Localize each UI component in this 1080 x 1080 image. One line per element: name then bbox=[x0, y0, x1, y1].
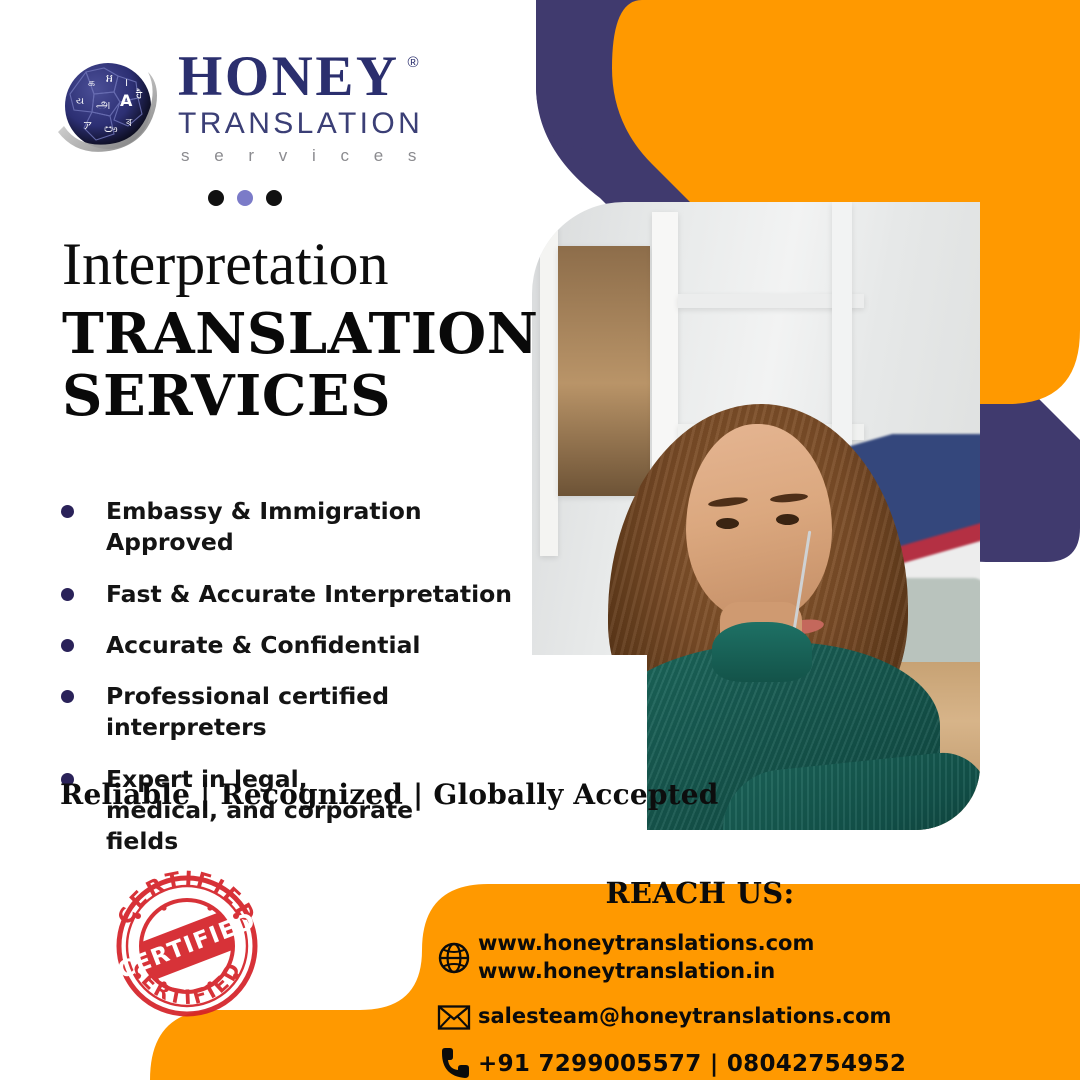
certified-stamp-icon: CERTIFIED CERTIFIED CERTIFIED bbox=[104, 868, 270, 1018]
svg-text:அ: அ bbox=[96, 97, 110, 112]
logo-dots bbox=[208, 190, 282, 206]
contact-website-row: www.honeytranslations.com www.honeytrans… bbox=[430, 930, 1080, 985]
phone-icon bbox=[430, 1047, 478, 1080]
feature-text: Fast & Accurate Interpretation bbox=[106, 579, 512, 610]
dot-3 bbox=[266, 190, 282, 206]
globe-icon bbox=[430, 941, 478, 975]
feature-list: Embassy & Immigration Approved Fast & Ac… bbox=[56, 496, 536, 877]
headline-block: Interpretation TRANSLATION SERVICES bbox=[62, 234, 532, 429]
logo-subtitle: TRANSLATION bbox=[178, 107, 426, 141]
bullet-icon bbox=[61, 505, 74, 518]
envelope-icon bbox=[430, 1004, 478, 1031]
tagline: Reliable | Recognized | Globally Accepte… bbox=[60, 778, 719, 811]
interpreter-person bbox=[602, 370, 932, 830]
feature-text: Professional certified interpreters bbox=[106, 681, 536, 744]
hero-photo bbox=[532, 202, 980, 830]
svg-text:A: A bbox=[120, 91, 133, 110]
list-item: Embassy & Immigration Approved bbox=[56, 496, 536, 559]
contact-block: REACH US: www.honeytranslations.com www.… bbox=[430, 876, 1080, 1080]
feature-text: Accurate & Confidential bbox=[106, 630, 421, 661]
email-address[interactable]: salesteam@honeytranslations.com bbox=[478, 1003, 891, 1031]
svg-text:ৰ: ৰ bbox=[125, 116, 133, 129]
bullet-icon bbox=[61, 690, 74, 703]
headline-bold-1: TRANSLATION bbox=[62, 301, 532, 367]
contact-email-row: salesteam@honeytranslations.com bbox=[430, 1003, 1080, 1031]
flyer-canvas: க អ । ય அ A ਹੈ ァ ඐ ৰ HONEY ® TRANSLATION… bbox=[0, 0, 1080, 1080]
feature-text: Embassy & Immigration Approved bbox=[106, 496, 536, 559]
dot-1 bbox=[208, 190, 224, 206]
contact-phone-row: +91 7299005577 | 08042754952 bbox=[430, 1047, 1080, 1080]
brand-logo: க អ । ય அ A ਹੈ ァ ඐ ৰ HONEY ® TRANSLATION… bbox=[52, 48, 426, 166]
list-item: Fast & Accurate Interpretation bbox=[56, 579, 536, 610]
face bbox=[686, 424, 832, 620]
website-1[interactable]: www.honeytranslations.com bbox=[478, 931, 814, 955]
logo-services-label: s e r v i c e s bbox=[178, 146, 426, 166]
logo-wordmark: HONEY bbox=[178, 45, 400, 108]
globe-languages-icon: க អ । ય அ A ਹੈ ァ ඐ ৰ bbox=[52, 54, 164, 160]
website-2[interactable]: www.honeytranslation.in bbox=[478, 959, 775, 983]
dot-2 bbox=[237, 190, 253, 206]
headline-bold-2: SERVICES bbox=[62, 363, 532, 429]
svg-text:ඐ: ඐ bbox=[104, 122, 118, 135]
svg-text:ァ: ァ bbox=[82, 118, 93, 131]
list-item: Accurate & Confidential bbox=[56, 630, 536, 661]
registered-trademark-icon: ® bbox=[407, 54, 418, 71]
svg-text:க: க bbox=[88, 76, 95, 89]
svg-text:।: । bbox=[124, 76, 128, 89]
list-item: Professional certified interpreters bbox=[56, 681, 536, 744]
bullet-icon bbox=[61, 639, 74, 652]
svg-text:អ: អ bbox=[106, 72, 113, 85]
contact-heading: REACH US: bbox=[430, 876, 970, 910]
headline-script: Interpretation bbox=[62, 234, 532, 295]
bullet-icon bbox=[61, 588, 74, 601]
svg-text:ਹੈ: ਹੈ bbox=[135, 89, 143, 101]
phone-numbers[interactable]: +91 7299005577 | 08042754952 bbox=[478, 1049, 906, 1079]
svg-text:ય: ય bbox=[76, 96, 84, 107]
website-links[interactable]: www.honeytranslations.com www.honeytrans… bbox=[478, 930, 814, 985]
